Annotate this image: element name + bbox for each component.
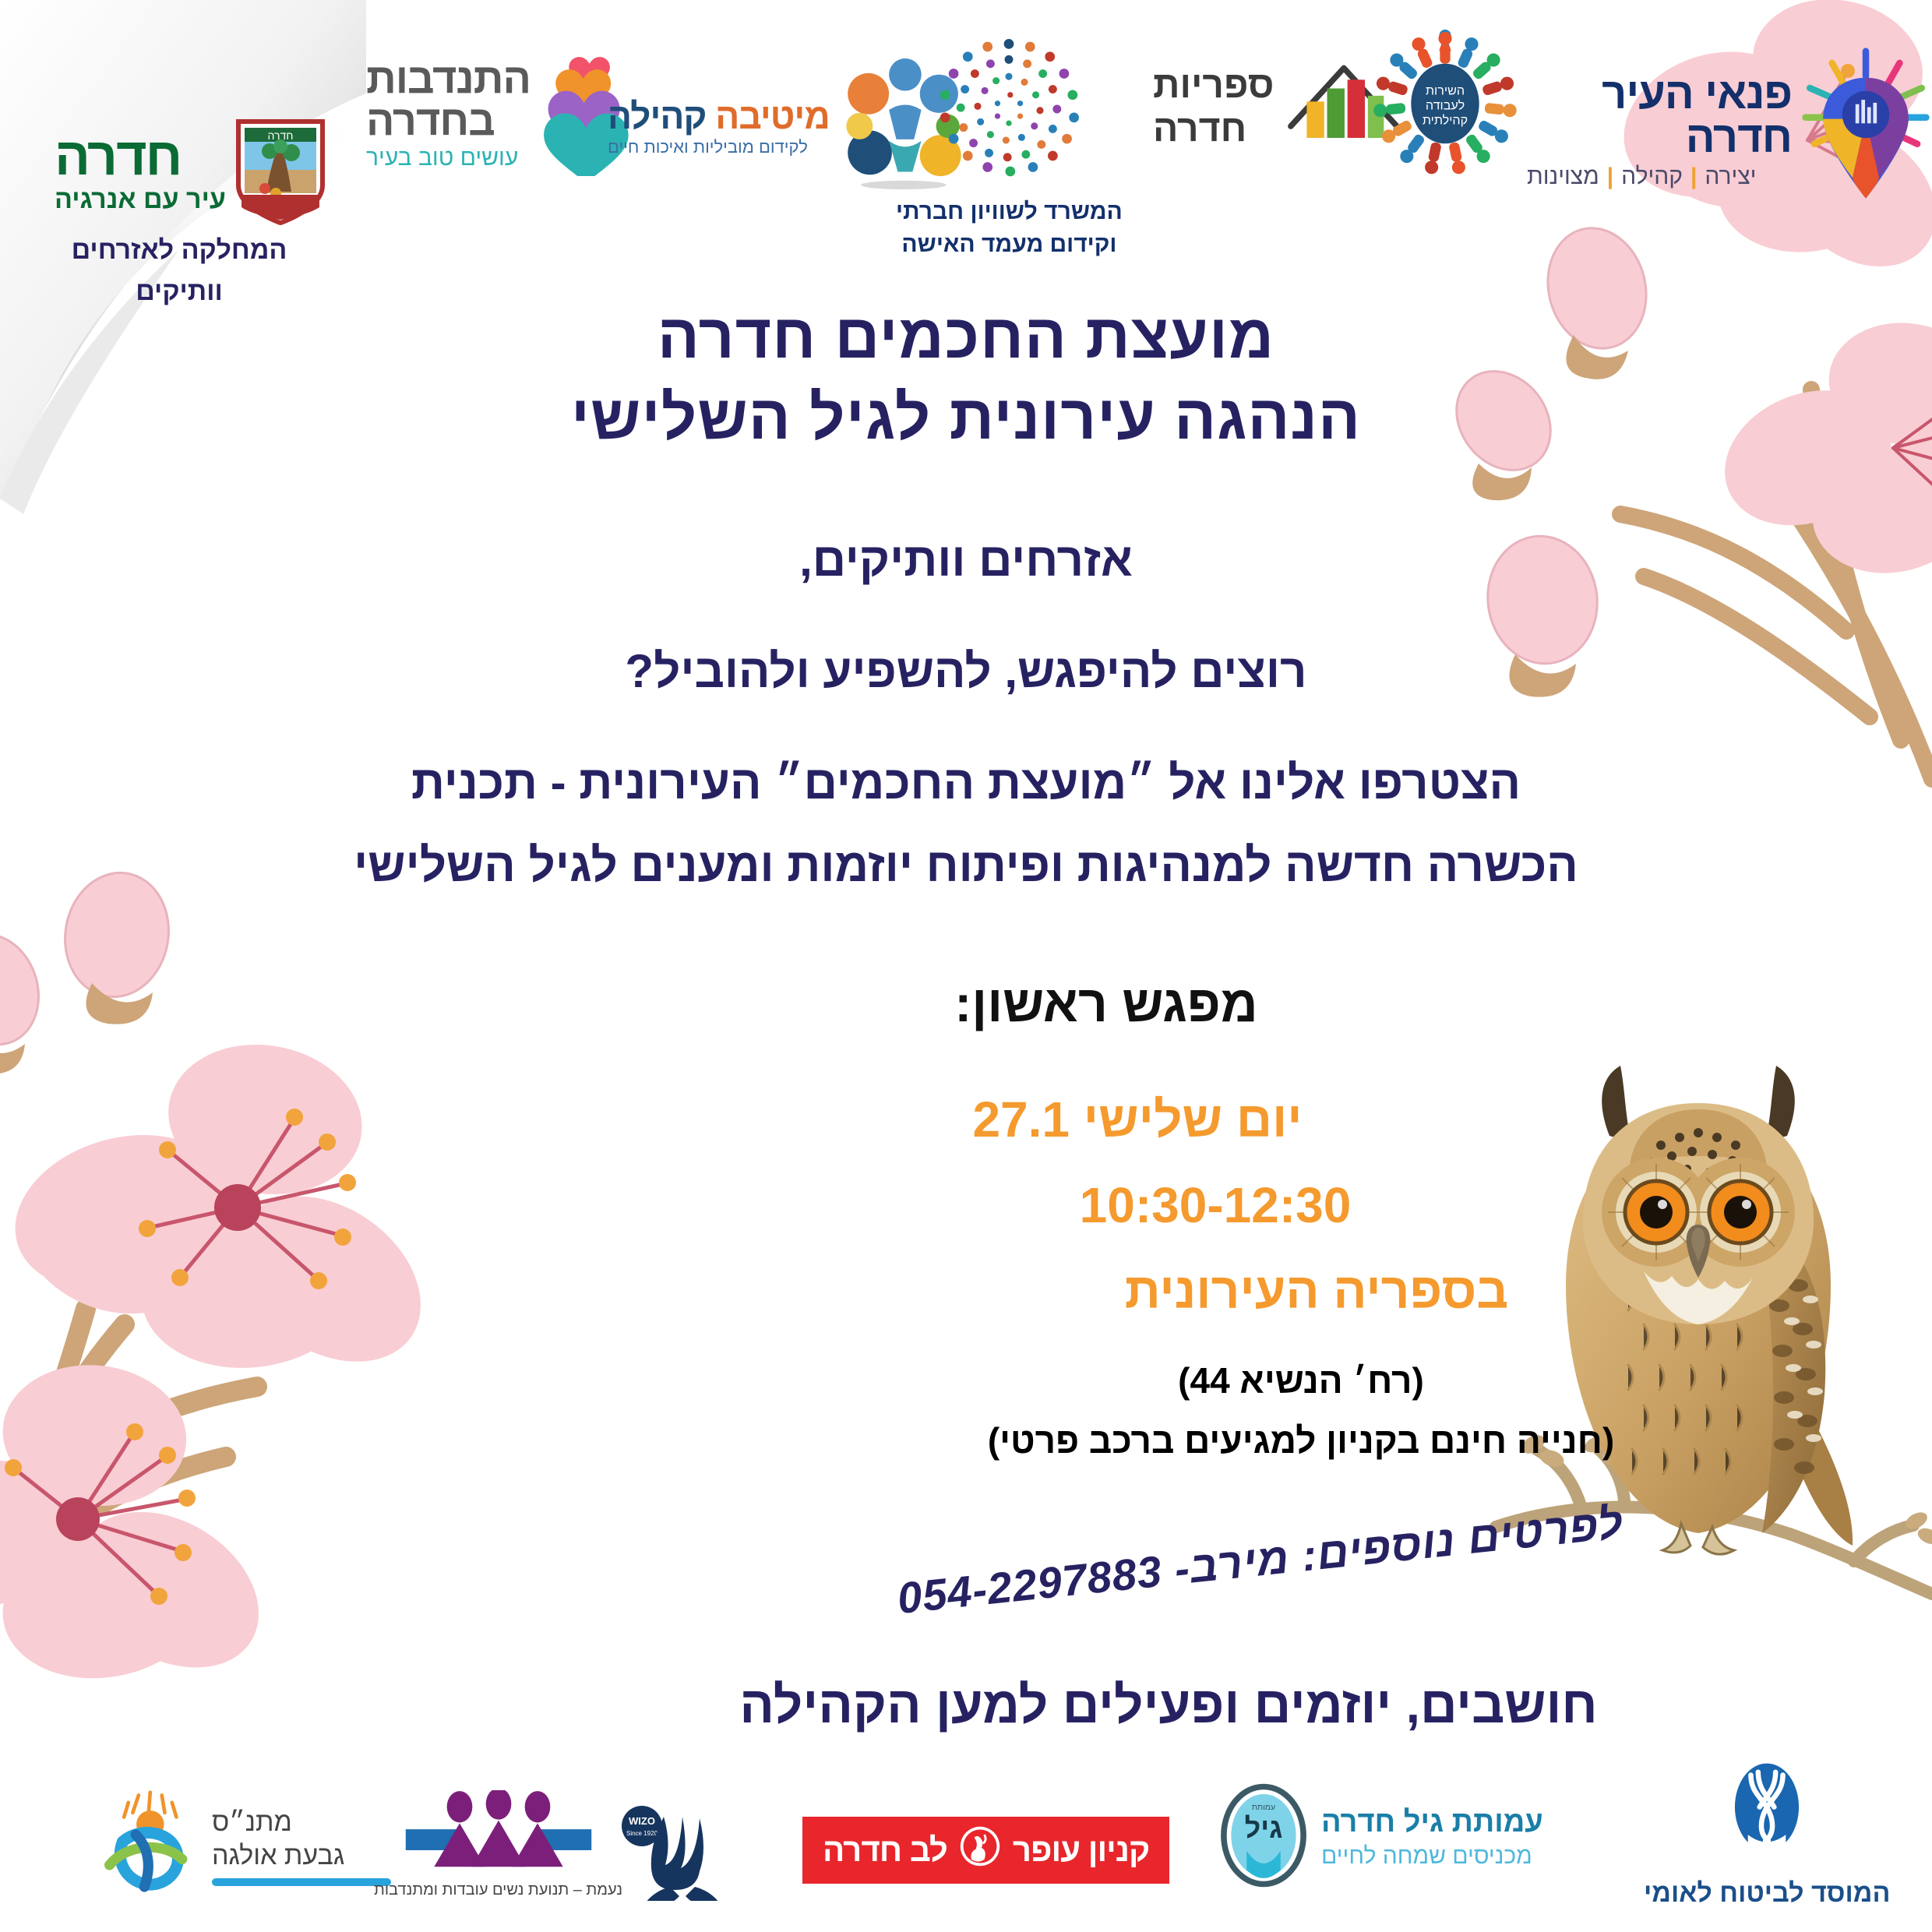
body-line-1: אזרחים וותיקים, [93, 522, 1839, 598]
top-logo-strip: חדרה חדרה עיר עם אנרגיה המחלקה לאזרחים ו [0, 0, 1932, 234]
logo-pnai-hair-hadera: פנאי העיר חדרה יצירה | קהילה | מצוינות [1527, 47, 1932, 213]
ministry-logo-line1: המשרד לשוויון חברתי [896, 196, 1123, 228]
logo-naamat: נעמת – תנועת נשים עובדות ומתנדבות [374, 1790, 622, 1899]
pnai-logo-s2: קהילה [1621, 165, 1683, 189]
wizo-since-text: Since 1920 [626, 1830, 658, 1837]
body-line-4: הכשרה חדשה למנהיגות ופיתוח יוזמות ומענים… [93, 827, 1839, 903]
kanyon-text-1: קניון עופר [1013, 1832, 1149, 1869]
meeting-address: (רח׳ הנשיא 44) [0, 1359, 1932, 1401]
matnas-figure-icon [93, 1789, 203, 1902]
meeting-parking-note: (חנייה חינם בקניון למגיעים ברכב פרטי) [0, 1419, 1932, 1461]
hadera-crest-icon: חדרה [234, 117, 327, 226]
ministry-logo-line2: וקידום מעמד האישה [896, 228, 1123, 261]
service-logo-line1: השירות [1426, 84, 1465, 98]
pnai-logo-s1: יצירה [1705, 165, 1756, 189]
service-logo-line2: לעבודה [1426, 99, 1465, 113]
bottom-logo-strip: מתנ״ס גבעת אולגה [0, 1776, 1932, 1932]
people-circle-icon: השירות לעבודה קהילתית [1371, 30, 1519, 182]
headline-line-1: מועצת החכמים חדרה [0, 296, 1932, 377]
body-line-3: הצטרפו אלינו אל ״מועצת החכמים״ העירונית … [93, 745, 1839, 820]
service-logo-line3: קהילתית [1423, 114, 1468, 128]
logo-ministry-social-equality: המשרד לשוויון חברתי וקידום מעמד האישה [896, 31, 1123, 261]
kehila-logo-word-a: קהילה [608, 96, 707, 136]
naamat-sub: נעמת – תנועת נשים עובדות ומתנדבות [374, 1881, 622, 1899]
logo-community-work-service: השירות לעבודה קהילתית [1371, 30, 1519, 182]
poster-canvas: חדרה חדרה עיר עם אנרגיה המחלקה לאזרחים ו [0, 0, 1932, 1932]
libraries-logo-line1: ספריות [1153, 64, 1274, 107]
logo-wizo: WIZO Since 1920 [615, 1800, 732, 1901]
hadera-logo-sub: עיר עם אנרגיה [55, 186, 226, 213]
body-copy: אזרחים וותיקים, רוצים להיפגש, להשפיע ולה… [93, 522, 1839, 903]
logo-hadera-libraries: ספריות חדרה [1153, 51, 1406, 164]
libraries-logo-line2: חדרה [1153, 108, 1246, 150]
pnai-logo-s3: מצוינות [1527, 165, 1599, 189]
logo-hadera-municipality: חדרה חדרה עיר עם אנרגיה [55, 117, 327, 226]
bituach-leumi-emblem-icon [1723, 1759, 1810, 1872]
logo-matnas-givat-olga: מתנ״ס גבעת אולגה [93, 1789, 391, 1902]
pnai-logo-main: פנאי העיר חדרה [1527, 72, 1792, 159]
pnai-sep-2: | [1607, 165, 1613, 189]
wizo-mark-text: WIZO [629, 1815, 655, 1827]
volunteer-logo-sub: עושים טוב בעיר [366, 146, 518, 170]
naamat-figures-icon [401, 1790, 596, 1877]
matnas-line1: מתנ״ס [212, 1806, 292, 1839]
pnai-sep-1: | [1690, 165, 1697, 189]
logo-volunteer-hadera: התנדבות בחדרה עושים טוב בעיר [366, 47, 640, 180]
location-pin-burst-icon [1800, 47, 1932, 213]
matnas-underline-bar [212, 1878, 391, 1886]
kanyon-deer-icon [958, 1824, 1002, 1876]
headline-line-2: הנהגה עירונית לגיל השלישי [0, 377, 1932, 458]
gil-seal-icon: עמותת גיל [1215, 1780, 1312, 1895]
dotted-swirl-icon [931, 31, 1087, 191]
gil-line2: מכניסים שמחה לחיים [1321, 1843, 1532, 1870]
gil-seal-word: גיל [1245, 1812, 1283, 1844]
gil-line1: עמותת גיל חדרה [1321, 1805, 1543, 1841]
body-line-2: רוצים להיפגש, להשפיע ולהוביל? [93, 633, 1839, 709]
kehila-logo-word-b: מיטיבה [715, 96, 829, 136]
volunteer-logo-line1: התנדבות [366, 58, 531, 100]
logo-amutat-gil-hadera: עמותת גיל חדרה מכניסים שמחה לחיים עמותת … [1215, 1780, 1543, 1895]
kanyon-text-2: לב חדרה [823, 1832, 947, 1869]
meeting-location: בספריה העירונית [0, 1262, 1932, 1320]
matnas-line2: גבעת אולגה [212, 1839, 344, 1873]
logo-bituach-leumi: המוסד לביטוח לאומי [1644, 1759, 1890, 1909]
logo-kanyon-ofer-lev-hadera: קניון עופר לב חדרה [802, 1817, 1169, 1884]
meeting-date: יום שלישי 27.1 [0, 1091, 1932, 1148]
volunteer-logo-line2: בחדרה [366, 100, 495, 142]
kehila-logo-sub: לקידום מוביליות ואיכות חיים [608, 139, 808, 156]
hadera-logo-main: חדרה [55, 130, 181, 183]
bituach-leumi-label: המוסד לביטוח לאומי [1644, 1878, 1890, 1909]
meeting-time: 10:30-12:30 [0, 1176, 1932, 1234]
tagline: חושבים, יוזמים ופעילים למען הקהילה [0, 1675, 1932, 1734]
gil-seal-small: עמותת [1252, 1803, 1275, 1812]
meeting-heading: מפגש ראשון: [0, 974, 1932, 1033]
page-title: מועצת החכמים חדרה הנהגה עירונית לגיל השל… [0, 296, 1932, 458]
